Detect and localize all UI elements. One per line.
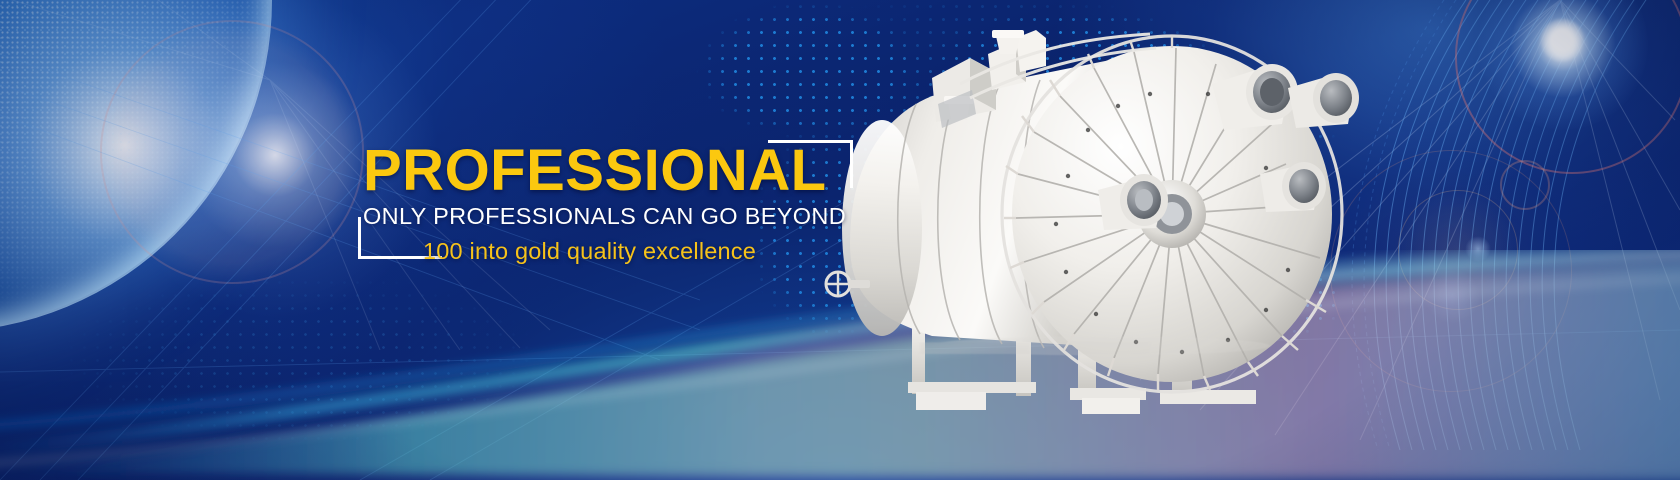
hero-banner: PROFESSIONAL ONLY PROFESSIONALS CAN GO B…	[0, 0, 1680, 480]
vignette-overlay	[0, 0, 1680, 480]
